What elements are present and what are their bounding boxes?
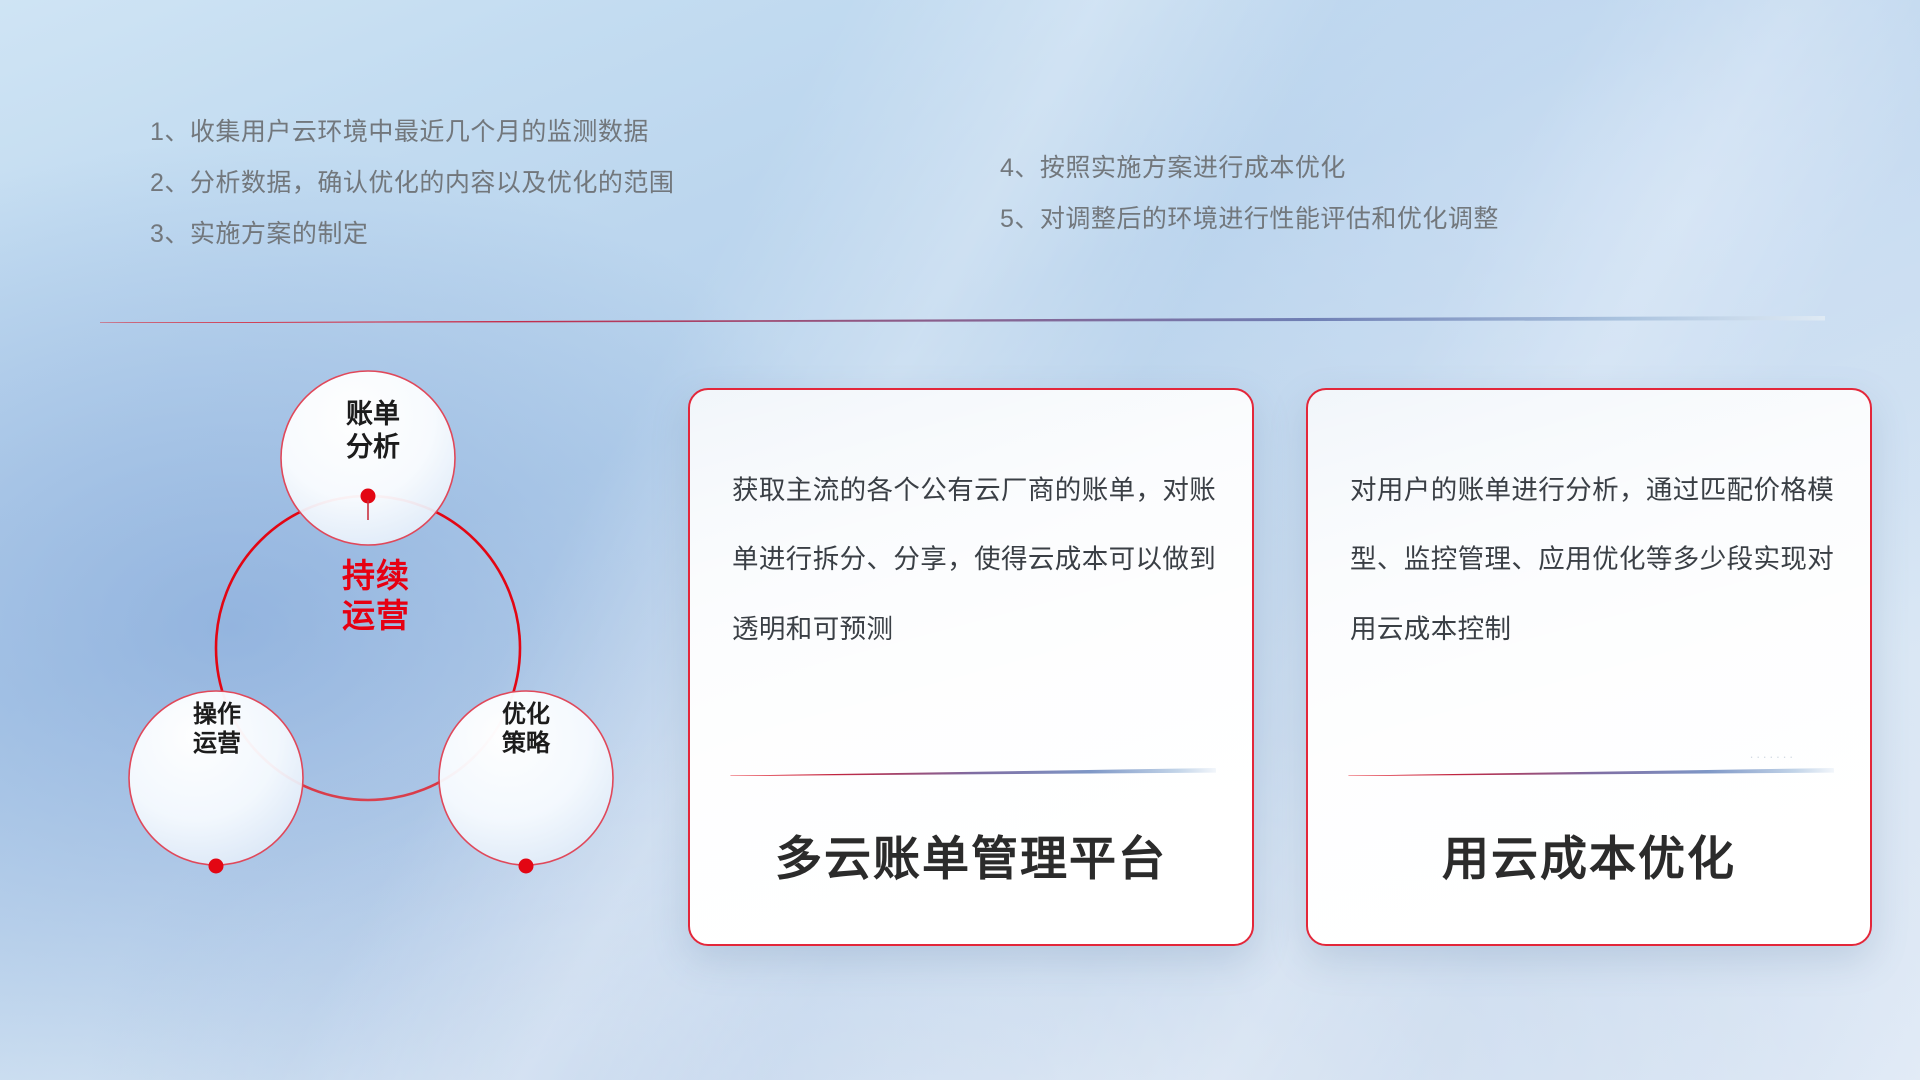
venn-diagram: 账单 分析 操作 运营 优化 策略 持续 运营 <box>96 348 636 948</box>
card-body-text: 对用户的账单进行分析，通过匹配价格模型、监控管理、应用优化等多少段实现对用云成本… <box>1350 456 1840 664</box>
venn-diagram-svg <box>96 348 636 948</box>
venn-node-dot-right <box>519 859 534 874</box>
venn-node-dot-left <box>209 859 224 874</box>
info-card-multi-cloud-bill-platform[interactable]: 获取主流的各个公有云厂商的账单，对账单进行拆分、分享，使得云成本可以做到透明和可… <box>688 388 1254 946</box>
card-title: 用云成本优化 <box>1308 820 1870 889</box>
step-item-4: 4、按照实施方案进行成本优化 <box>1000 156 1499 181</box>
header-divider-rule <box>100 316 1825 323</box>
venn-bubble-operation <box>129 691 303 865</box>
step-item-1: 1、收集用户云环境中最近几个月的监测数据 <box>150 120 674 145</box>
steps-left-column: 1、收集用户云环境中最近几个月的监测数据 2、分析数据，确认优化的内容以及优化的… <box>150 120 674 247</box>
slide-canvas: 1、收集用户云环境中最近几个月的监测数据 2、分析数据，确认优化的内容以及优化的… <box>0 0 1920 1080</box>
card-title: 多云账单管理平台 <box>690 820 1252 889</box>
step-item-5: 5、对调整后的环境进行性能评估和优化调整 <box>1000 207 1499 232</box>
card-body-text: 获取主流的各个公有云厂商的账单，对账单进行拆分、分享，使得云成本可以做到透明和可… <box>732 456 1222 664</box>
step-item-2: 2、分析数据，确认优化的内容以及优化的范围 <box>150 171 674 196</box>
venn-bubble-strategy <box>439 691 613 865</box>
card-divider-rule <box>730 768 1216 776</box>
steps-right-column: 4、按照实施方案进行成本优化 5、对调整后的环境进行性能评估和优化调整 <box>1000 156 1499 232</box>
card-ghost-text: ....... <box>1750 746 1796 761</box>
card-divider-rule <box>1348 768 1834 776</box>
info-card-cloud-cost-optimization[interactable]: 对用户的账单进行分析，通过匹配价格模型、监控管理、应用优化等多少段实现对用云成本… <box>1306 388 1872 946</box>
step-item-3: 3、实施方案的制定 <box>150 222 674 247</box>
